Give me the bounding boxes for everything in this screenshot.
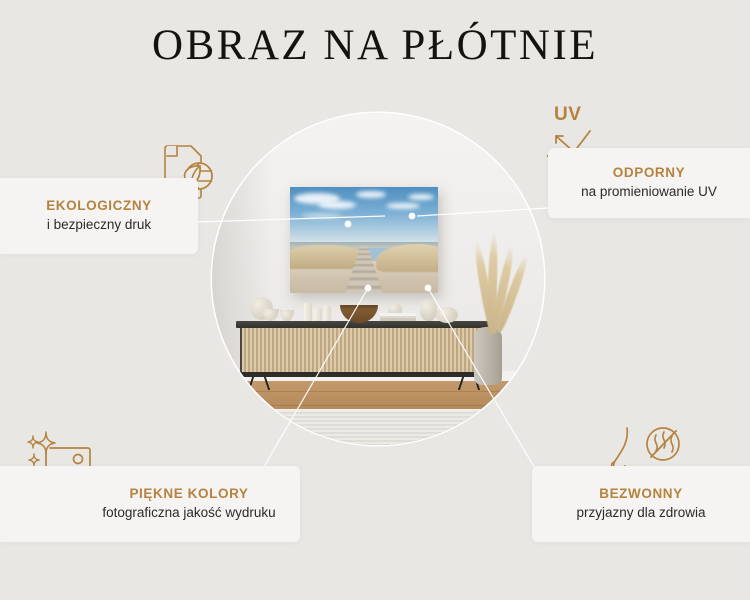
stone-vase xyxy=(474,327,502,385)
page-title: OBRAZ NA PŁÓTNIE xyxy=(0,24,750,67)
room-scene xyxy=(212,113,544,445)
decor-candle-1 xyxy=(304,303,312,321)
decor-candle-2 xyxy=(314,308,322,321)
feature-card-colors[interactable]: PIĘKNE KOLORY fotograficzna jakość wydru… xyxy=(0,466,300,542)
infographic-stage: OBRAZ NA PŁÓTNIE xyxy=(0,0,750,600)
decor-books xyxy=(380,313,416,321)
canvas-print-artwork xyxy=(290,187,438,293)
feature-subtitle-colors: fotograficzna jakość wydruku xyxy=(102,505,275,521)
feature-headline-colors: PIĘKNE KOLORY xyxy=(129,487,248,502)
product-scene-circle xyxy=(212,113,544,445)
feature-subtitle-uv: na promieniowanie UV xyxy=(581,184,717,200)
feature-card-uv[interactable]: ODPORNY na promieniowanie UV xyxy=(548,148,750,218)
feature-headline-odor: BEZWONNY xyxy=(599,487,683,502)
sideboard-furniture xyxy=(236,321,494,383)
feature-subtitle-odor: przyjazny dla zdrowia xyxy=(576,505,705,521)
decor-vase-round xyxy=(436,307,458,323)
area-rug xyxy=(212,409,544,445)
feature-card-odor[interactable]: BEZWONNY przyjazny dla zdrowia xyxy=(532,466,750,542)
feature-headline-eco: EKOLOGICZNY xyxy=(46,199,152,214)
feature-card-eco[interactable]: EKOLOGICZNY i bezpieczny druk xyxy=(0,178,198,254)
feature-subtitle-eco: i bezpieczny druk xyxy=(47,217,151,233)
feature-headline-uv: ODPORNY xyxy=(613,166,685,181)
decor-candle-3 xyxy=(324,306,331,321)
decor-vase-tall xyxy=(420,299,437,321)
uv-text-label: UV xyxy=(554,104,581,126)
